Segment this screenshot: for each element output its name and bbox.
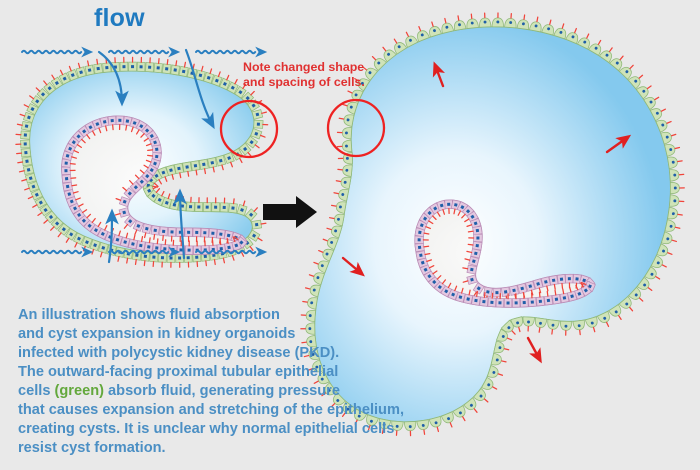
cell-cilium (484, 399, 487, 402)
cell-cilium (243, 201, 244, 206)
epithelial-cell (669, 169, 684, 182)
flow-title: flow (94, 6, 145, 31)
cell-cilium (555, 290, 556, 295)
epithelial-cell (331, 200, 347, 214)
cell-cilium (309, 275, 313, 276)
cell-cilium (101, 252, 102, 257)
cell-cilium (607, 322, 609, 326)
cell-nucleus (147, 245, 150, 248)
cell-nucleus (454, 203, 458, 207)
cell-cilium (630, 307, 633, 310)
cell-nucleus (118, 119, 121, 122)
cell-nucleus (563, 296, 566, 299)
cell-cilium (504, 349, 508, 350)
cell-nucleus (512, 289, 516, 293)
cell-cilium (149, 238, 150, 243)
cell-cilium (394, 39, 396, 43)
cell-cilium (44, 220, 48, 223)
epithelial-cell (667, 155, 683, 169)
cell-nucleus (194, 164, 197, 167)
cell-cilium (303, 301, 307, 302)
cell-nucleus (257, 123, 260, 126)
cell-cilium (524, 15, 525, 19)
cell-cilium (639, 75, 642, 78)
cell-nucleus (418, 238, 421, 241)
cell-cilium (675, 147, 679, 148)
cell-cilium (159, 180, 161, 184)
cell-cilium (339, 118, 343, 119)
epithelial-cell (452, 15, 466, 31)
cell-cilium (36, 88, 39, 91)
cell-cilium (176, 61, 177, 66)
epithelial-cell (479, 13, 491, 27)
cell-cilium (537, 17, 538, 21)
cell-cilium (667, 122, 671, 124)
cell-cilium (640, 298, 643, 301)
cell-nucleus (179, 248, 182, 251)
cell-cilium (167, 60, 168, 65)
cell-nucleus (131, 65, 134, 68)
cell-nucleus (466, 297, 470, 301)
cell-nucleus (148, 66, 151, 69)
cell-cilium (519, 327, 520, 331)
cell-nucleus (24, 133, 27, 136)
cell-nucleus (155, 148, 158, 151)
cell-nucleus (523, 301, 526, 304)
cell-cilium (314, 262, 318, 264)
epithelial-cell (203, 198, 211, 212)
epithelial-cell (668, 207, 683, 220)
cell-cilium (258, 238, 262, 241)
cell-cilium (348, 91, 352, 93)
cell-cilium (432, 22, 433, 26)
cell-nucleus (206, 206, 209, 209)
cell-nucleus (182, 70, 186, 74)
cell-cilium (205, 169, 206, 174)
cell-nucleus (111, 119, 114, 122)
cell-nucleus (88, 68, 92, 72)
flow-arrow-bottom-1 (22, 247, 93, 258)
cell-cilium (306, 288, 310, 289)
cell-nucleus (165, 67, 168, 70)
epithelial-cell (252, 108, 267, 119)
cell-cilium (668, 253, 672, 255)
epithelial-cell (162, 59, 171, 74)
cell-nucleus (163, 247, 166, 250)
cell-cilium (183, 197, 184, 202)
cell-cilium (468, 231, 473, 232)
cell-nucleus (498, 301, 501, 304)
cell-nucleus (447, 203, 450, 206)
cell-nucleus (195, 231, 198, 234)
cell-cilium (234, 199, 235, 204)
cell-cilium (51, 227, 54, 230)
epithelial-cell (426, 20, 441, 37)
cell-cilium (678, 161, 682, 162)
caption-line-8: resist cyst formation. (18, 439, 438, 458)
epithelial-cell (487, 365, 504, 380)
caption-line-7: creating cysts. It is unclear why normal… (18, 420, 438, 439)
cell-cilium (188, 171, 189, 176)
cell-cilium (210, 69, 211, 74)
cell-cilium (610, 48, 613, 52)
cell-nucleus (152, 256, 155, 259)
cell-cilium (493, 387, 497, 389)
cell-nucleus (25, 160, 28, 163)
cell-nucleus (154, 229, 157, 232)
cell-cilium (512, 331, 515, 334)
caption-line-1: An illustration shows fluid absorption (18, 306, 438, 325)
cell-cilium (598, 40, 600, 44)
cell-cilium (235, 80, 237, 84)
cell-cilium (484, 293, 485, 298)
cell-cilium (180, 173, 181, 178)
cell-nucleus (507, 301, 510, 304)
cell-cilium (678, 214, 682, 215)
cell-nucleus (211, 232, 214, 235)
cell-cilium (18, 162, 23, 163)
cell-cilium (202, 66, 203, 71)
cell-nucleus (177, 167, 181, 171)
cell-cilium (33, 205, 37, 207)
cell-cilium (142, 237, 143, 242)
cell-nucleus (568, 277, 571, 280)
epithelial-cell (195, 198, 203, 212)
cell-cilium (468, 244, 473, 245)
flow-arrow-top-3 (196, 47, 267, 58)
epithelial-cell (184, 253, 192, 267)
cell-cilium (250, 247, 253, 251)
cell-cilium (575, 29, 577, 33)
cell-cilium (580, 330, 581, 334)
cell-nucleus (139, 244, 142, 247)
cell-cilium (332, 205, 336, 206)
cell-cilium (383, 47, 386, 50)
epithelial-cell (546, 320, 559, 335)
epithelial-cell (585, 317, 600, 334)
cell-cilium (227, 75, 229, 79)
cell-nucleus (470, 268, 473, 271)
cell-cilium (424, 233, 429, 234)
cell-cilium (118, 257, 119, 262)
cell-cilium (17, 124, 22, 125)
epithelial-cell (176, 253, 184, 267)
cell-cilium (334, 193, 338, 194)
cell-cilium (656, 277, 660, 279)
epithelial-cell (338, 113, 354, 127)
cell-cilium (248, 152, 251, 156)
cell-nucleus (504, 290, 507, 293)
cell-cilium (547, 291, 548, 296)
cell-cilium (78, 63, 79, 68)
epithelial-cell (533, 318, 546, 333)
cell-cilium (620, 56, 623, 59)
caption-line-6: that causes expansion and stretching of … (18, 401, 438, 420)
cell-nucleus (140, 65, 143, 68)
cell-cilium (172, 175, 173, 180)
cell-cilium (474, 409, 477, 412)
cell-nucleus (105, 66, 108, 69)
cell-nucleus (126, 119, 129, 122)
cell-nucleus (419, 254, 423, 258)
epithelial-cell (154, 58, 163, 72)
epithelial-cell (494, 341, 510, 355)
cell-nucleus (122, 65, 125, 68)
cell-cilium (676, 227, 680, 228)
epithelial-cell (212, 198, 220, 212)
cell-cilium (154, 235, 155, 240)
pkd-illustration-figure: flow Note changed shape and spacing of c… (0, 0, 700, 470)
flow-arrow-top-1 (22, 47, 93, 58)
cell-cilium (619, 316, 621, 320)
cell-cilium (157, 239, 158, 244)
cell-cilium (323, 239, 327, 241)
cell-cilium (214, 260, 215, 265)
cell-cilium (75, 243, 77, 247)
cell-cilium (343, 104, 347, 105)
cell-cilium (255, 145, 259, 148)
cell-nucleus (161, 256, 164, 259)
epithelial-cell (333, 187, 349, 201)
epithelial-cell (337, 127, 352, 139)
cell-cilium (463, 268, 468, 269)
cell-cilium (44, 81, 47, 85)
cell-cilium (156, 189, 159, 193)
cell-cilium (562, 283, 563, 288)
cell-cilium (58, 233, 61, 237)
epithelial-cell (220, 198, 228, 212)
cell-nucleus (65, 162, 68, 165)
cell-nucleus (189, 205, 192, 208)
cell-nucleus (474, 299, 477, 302)
cell-cilium (69, 66, 71, 70)
epithelial-cell (329, 212, 345, 226)
cell-cilium (672, 240, 676, 241)
epithelial-cell (335, 175, 351, 189)
cell-nucleus (185, 165, 188, 168)
cell-nucleus (64, 169, 67, 172)
cell-nucleus (197, 205, 200, 208)
cell-cilium (25, 188, 30, 190)
cell-nucleus (227, 246, 231, 250)
epithelial-cell (492, 13, 504, 27)
cell-cilium (336, 181, 340, 182)
cell-nucleus (173, 203, 177, 207)
cell-cilium (463, 417, 465, 421)
cell-cilium (66, 238, 69, 242)
cell-cilium (222, 165, 223, 170)
cell-cilium (20, 171, 25, 172)
pressure-arrow-down (528, 338, 540, 360)
cell-nucleus (66, 185, 69, 188)
cell-nucleus (223, 206, 226, 209)
cell-nucleus (219, 232, 222, 235)
cell-nucleus (418, 231, 421, 234)
cell-nucleus (155, 155, 158, 158)
cell-cilium (240, 158, 242, 162)
epithelial-cell (560, 321, 572, 335)
cell-nucleus (231, 206, 234, 209)
cell-cilium (647, 86, 651, 89)
cell-nucleus (96, 67, 99, 70)
cell-nucleus (24, 142, 27, 145)
epithelial-cell (16, 148, 31, 157)
epithelial-cell (466, 14, 479, 29)
cell-cilium (502, 361, 506, 362)
cell-cilium (554, 285, 555, 290)
epithelial-cell (542, 19, 557, 35)
epithelial-cell (669, 195, 684, 208)
note-line-2: and spacing of cells. (243, 75, 383, 90)
cell-nucleus (131, 242, 135, 246)
cell-cilium (477, 292, 478, 297)
epithelial-cell (517, 14, 530, 29)
cell-nucleus (157, 66, 160, 69)
cell-nucleus (486, 290, 490, 294)
cell-cilium (672, 134, 676, 135)
cell-cilium (52, 75, 55, 79)
cell-cilium (262, 112, 267, 113)
cell-cilium (261, 223, 266, 224)
cell-cilium (70, 164, 75, 165)
cell-cilium (406, 32, 408, 36)
cell-nucleus (539, 300, 542, 303)
cell-nucleus (255, 223, 258, 226)
cell-cilium (196, 170, 197, 175)
epithelial-cell (171, 60, 181, 75)
cell-cilium (424, 246, 429, 247)
epithelial-cell (491, 353, 507, 367)
cell-nucleus (575, 277, 578, 280)
cell-nucleus (162, 230, 165, 233)
cell-nucleus (547, 299, 550, 302)
note-annotation: Note changed shape and spacing of cells. (243, 60, 383, 89)
epithelial-cell (16, 131, 30, 140)
epithelial-cell (337, 164, 352, 177)
cell-cilium (419, 27, 421, 31)
cell-nucleus (482, 300, 485, 303)
cell-cilium (260, 135, 264, 137)
cell-cilium (661, 109, 665, 111)
cell-nucleus (476, 236, 479, 239)
cell-cilium (254, 208, 257, 212)
cell-nucleus (560, 278, 563, 281)
epithelial-cell (522, 317, 534, 331)
cell-cilium (539, 328, 540, 332)
epithelial-cell (93, 59, 103, 74)
cell-nucleus (170, 256, 173, 259)
cell-nucleus (155, 246, 158, 249)
cell-nucleus (173, 68, 176, 71)
cell-cilium (327, 228, 331, 229)
cell-cilium (38, 213, 42, 216)
cell-nucleus (27, 168, 31, 172)
epithelial-cell (439, 17, 453, 33)
cell-cilium (232, 256, 234, 261)
epithelial-cell (252, 219, 267, 229)
epithelial-cell (237, 200, 248, 215)
epithelial-cell (120, 57, 128, 71)
cell-cilium (251, 91, 254, 94)
cell-cilium (630, 65, 633, 68)
epithelial-cell (505, 13, 518, 28)
epithelial-cell (191, 161, 201, 176)
cell-cilium (425, 254, 430, 255)
cell-cilium (61, 70, 63, 74)
epithelial-cell (137, 57, 145, 71)
cell-cilium (445, 19, 446, 23)
epithelial-cell (529, 16, 543, 32)
cell-nucleus (203, 231, 206, 234)
cell-cilium (648, 288, 652, 291)
cell-nucleus (170, 230, 173, 233)
cell-nucleus (495, 291, 498, 294)
cell-cilium (148, 155, 153, 156)
cell-cilium (22, 180, 27, 181)
cell-cilium (552, 330, 553, 334)
cell-cilium (319, 251, 323, 253)
cell-nucleus (674, 187, 677, 190)
caption-green-highlight: (green) (55, 383, 104, 399)
cell-cilium (213, 167, 214, 172)
cell-cilium (330, 218, 334, 219)
cell-nucleus (204, 255, 207, 258)
flow-arrow-top-2 (109, 47, 180, 58)
epithelial-cell (573, 320, 586, 335)
cell-cilium (127, 258, 128, 263)
cell-nucleus (515, 301, 518, 304)
epithelial-cell (229, 198, 238, 213)
epithelial-cell (304, 282, 320, 297)
cell-nucleus (476, 229, 479, 232)
caption-line-5: cells (green) absorb fluid, generating p… (18, 382, 438, 401)
cell-nucleus (555, 298, 558, 301)
cell-cilium (168, 194, 170, 199)
cell-nucleus (187, 256, 190, 259)
cell-cilium (162, 192, 164, 196)
cell-nucleus (476, 244, 479, 247)
epithelial-cell (149, 252, 158, 266)
epithelial-cell (665, 220, 681, 234)
cell-cilium (72, 185, 77, 186)
cell-cilium (97, 59, 98, 64)
cell-cilium (30, 96, 34, 99)
cell-cilium (563, 289, 564, 294)
cell-nucleus (144, 255, 147, 258)
cell-cilium (136, 260, 137, 265)
figure-caption: An illustration shows fluid absorption a… (18, 306, 438, 458)
cell-nucleus (531, 300, 534, 303)
epithelial-cell (146, 58, 155, 72)
transition-arrow (263, 196, 317, 228)
cell-nucleus (202, 163, 205, 166)
cell-nucleus (187, 231, 190, 234)
cell-cilium (218, 72, 220, 76)
cell-nucleus (24, 151, 27, 154)
caption-line-2: and cyst expansion in kidney organoids (18, 325, 438, 344)
cell-cilium (20, 114, 25, 116)
cell-cilium (223, 258, 224, 263)
cell-cilium (231, 162, 233, 167)
cell-cilium (498, 374, 502, 375)
cell-cilium (662, 265, 666, 267)
note-line-1: Note changed shape (243, 60, 383, 75)
cell-cilium (28, 197, 32, 199)
cell-nucleus (178, 256, 181, 259)
cell-cilium (241, 252, 243, 256)
cell-nucleus (188, 249, 191, 252)
cell-cilium (148, 150, 153, 151)
